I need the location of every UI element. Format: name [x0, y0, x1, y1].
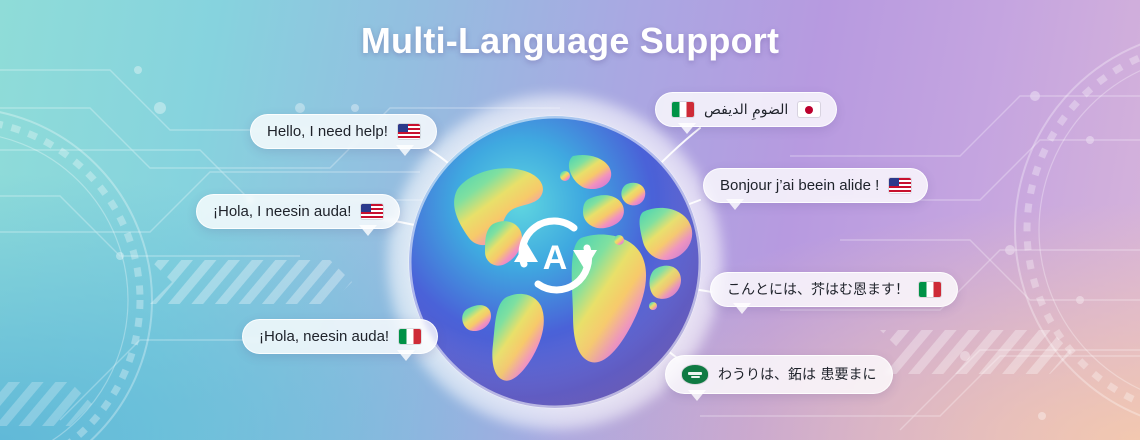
us-flag-icon: [398, 124, 420, 139]
bubble-text: ¡Hola, I neesin auda!: [213, 204, 351, 219]
jp-flag-icon: [798, 102, 820, 117]
speech-bubble-japanese-sa[interactable]: わうりは、鉐は 患要まに: [665, 355, 893, 394]
translate-letter: A: [543, 239, 568, 277]
sa-flag-icon: [682, 365, 708, 384]
bubble-text: わうりは、鉐は 患要まに: [718, 368, 876, 382]
sa-flag-sword-line: [691, 376, 700, 378]
speech-bubble-hello[interactable]: Hello, I need help!: [250, 114, 437, 149]
bubble-text: ¡Hola, neesin auda!: [259, 329, 389, 344]
bubble-text: Bonjour j’ai beein alide !: [720, 178, 879, 193]
bubble-text: Hello, I need help!: [267, 124, 388, 139]
bubble-text: الضومِ الديفص: [704, 103, 788, 117]
speech-bubble-japanese-it[interactable]: こんとには、芥はむ恩ます！: [710, 272, 958, 307]
sa-flag-script-line: [688, 372, 702, 375]
speech-bubble-hola-it[interactable]: ¡Hola, neesin auda!: [242, 319, 438, 354]
speech-bubble-bonjour[interactable]: Bonjour j’ai beein alide !: [703, 168, 928, 203]
multi-language-support-banner: Multi-Language Support: [0, 0, 1140, 440]
translate-rotate-icon: A: [508, 208, 603, 303]
bubble-text: こんとには、芥はむ恩ます！: [727, 283, 909, 297]
it-flag-icon: [919, 282, 941, 297]
speech-bubble-hola-us[interactable]: ¡Hola, I neesin auda!: [196, 194, 400, 229]
speech-bubble-arabic[interactable]: الضومِ الديفص: [655, 92, 837, 127]
it-flag-icon: [672, 102, 694, 117]
us-flag-icon: [889, 178, 911, 193]
it-flag-icon: [399, 329, 421, 344]
us-flag-icon: [361, 204, 383, 219]
page-title: Multi-Language Support: [0, 20, 1140, 62]
